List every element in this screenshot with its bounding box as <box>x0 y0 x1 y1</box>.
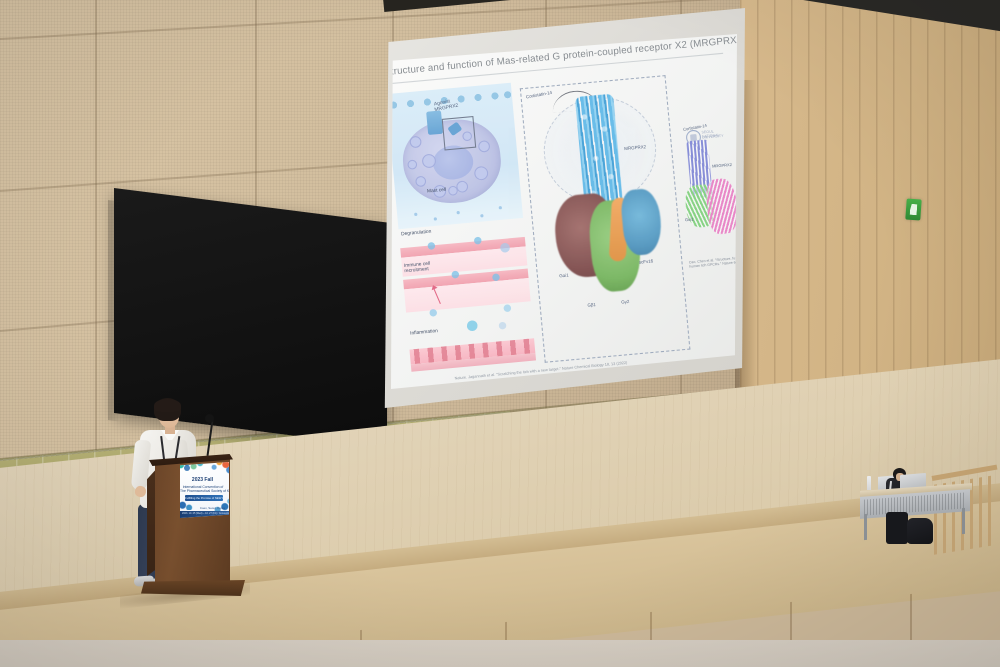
banner-venue: Coex, Seoul, Korea <box>200 506 225 510</box>
label-cortistatin-right: Cortistatin-14 <box>683 124 708 134</box>
banner-footer-text: 2023. 10. 25 (Wed) ~ 10. 27 (Fri) / Conv… <box>182 512 229 515</box>
label-g-alpha: Gαi1 <box>559 272 569 279</box>
zoom-callout-box <box>442 116 477 151</box>
podium-base <box>141 580 245 596</box>
receptor-icon <box>426 110 443 135</box>
hall-floor <box>0 640 1000 667</box>
av-operator-legs <box>886 512 908 544</box>
ribbon-receptor <box>705 177 737 235</box>
banner-line2: The Pharmaceutical Society of Korea <box>180 489 226 493</box>
microphone-head[interactable] <box>205 414 214 423</box>
label-inflammation: Inflammation <box>410 328 438 336</box>
society-crest-icon <box>184 465 190 471</box>
label-scfv16: scFv16 <box>639 258 654 265</box>
exit-sign <box>905 199 921 221</box>
projected-slide: Structure and function of Mas-related G … <box>391 34 737 389</box>
label-g-alpha-right: Gαi1 <box>685 217 694 223</box>
banner-theme-bar: Fulfilling the Promise of NEW Drug Disco… <box>185 495 223 501</box>
backpack <box>907 518 933 544</box>
slide-figure-mast-cell: Agonist MRGPRX2 Mast cell Degranulation … <box>391 83 537 377</box>
lecture-hall-photo: Structure and function of Mas-related G … <box>0 0 1000 667</box>
table-leg <box>864 514 867 540</box>
banner-splash-top-right <box>205 462 229 478</box>
label-degranulation: Degranulation <box>401 228 432 236</box>
water-bottle <box>867 476 871 490</box>
slide-figure-ribbon: Cortistatin-14 MRGPRX2 Gαi1 Cao, Chen et… <box>677 122 737 294</box>
label-cortistatin: Cortistatin-14 <box>525 90 552 100</box>
projection-screen: Structure and function of Mas-related G … <box>383 8 745 408</box>
banner-theme-text: Fulfilling the Promise of NEW Drug Disco… <box>185 496 223 500</box>
conference-banner: 2023 Fall International Convention of Th… <box>180 462 229 518</box>
slide-figure-cryoem: Cortistatin-14 MRGPRX2 Gαi1 Gβ1 Gγ2 scFv… <box>520 75 691 363</box>
podium: 2023 Fall International Convention of Th… <box>147 452 243 599</box>
banner-year: 2023 Fall <box>180 477 225 483</box>
label-g-beta: Gβ1 <box>587 302 596 308</box>
table-leg <box>962 508 965 534</box>
presenter-hair-front <box>154 399 181 412</box>
label-g-gamma: Gγ2 <box>621 299 630 305</box>
label-mrgprx2-right: MRGPRX2 <box>712 163 732 171</box>
